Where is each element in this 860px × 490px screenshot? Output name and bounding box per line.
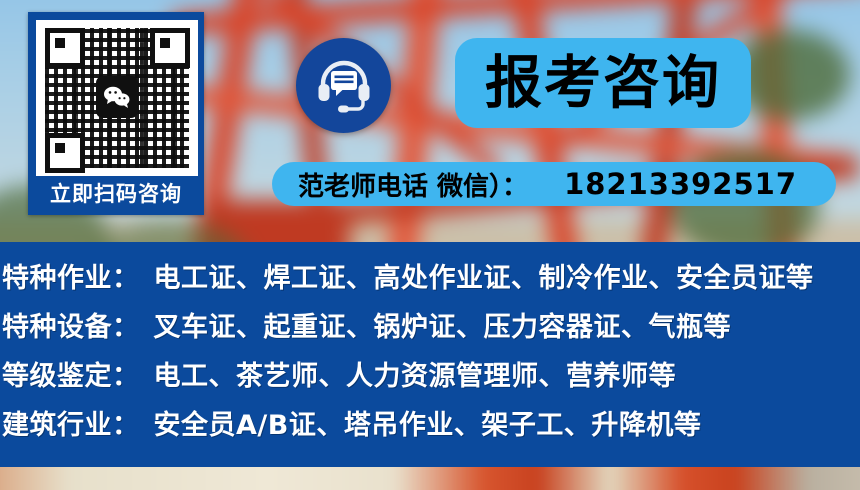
certificate-categories-panel: 特种作业： 电工证、焊工证、高处作业证、制冷作业、安全员证等 特种设备： 叉车证… (0, 242, 860, 467)
headset-support-icon (296, 38, 391, 133)
page-title: 报考咨询 (485, 55, 721, 112)
category-row: 等级鉴定： 电工、茶艺师、人力资源管理师、营养师等 (0, 354, 860, 403)
category-items: 安全员A/B证、塔吊作业、架子工、升降机等 (154, 403, 702, 442)
category-items: 叉车证、起重证、锅炉证、压力容器证、气瓶等 (154, 305, 732, 344)
category-items: 电工证、焊工证、高处作业证、制冷作业、安全员证等 (154, 256, 814, 295)
category-label: 特种作业： (2, 256, 140, 295)
contact-phone-number[interactable]: 18213392517 (564, 167, 797, 201)
category-label: 建筑行业： (2, 403, 140, 442)
qr-code-surface (36, 20, 198, 176)
consultation-title-pill: 报考咨询 (455, 38, 751, 128)
category-row: 特种设备： 叉车证、起重证、锅炉证、压力容器证、气瓶等 (0, 305, 860, 354)
contact-label: 范老师电话 微信）： (298, 166, 528, 203)
category-row: 建筑行业： 安全员A/B证、塔吊作业、架子工、升降机等 (0, 403, 860, 452)
qr-card-label: 立即扫码咨询 (31, 178, 201, 208)
bottom-photo-blur (0, 467, 860, 490)
promotional-poster: 立即扫码咨询 报考咨询 范老师电话 微信）： 18213392517 特种作业：… (0, 0, 860, 490)
qr-finder-pattern (45, 28, 85, 68)
category-label: 等级鉴定： (2, 354, 140, 393)
bottom-photo-strip (0, 467, 860, 490)
contact-phone-pill[interactable]: 范老师电话 微信）： 18213392517 (272, 162, 836, 206)
category-row: 特种作业： 电工证、焊工证、高处作业证、制冷作业、安全员证等 (0, 256, 860, 305)
wechat-icon (96, 76, 138, 118)
qr-finder-pattern (45, 133, 85, 173)
qr-finder-pattern (150, 28, 190, 68)
qr-code-card[interactable]: 立即扫码咨询 (28, 12, 204, 215)
category-items: 电工、茶艺师、人力资源管理师、营养师等 (154, 354, 677, 393)
category-label: 特种设备： (2, 305, 140, 344)
